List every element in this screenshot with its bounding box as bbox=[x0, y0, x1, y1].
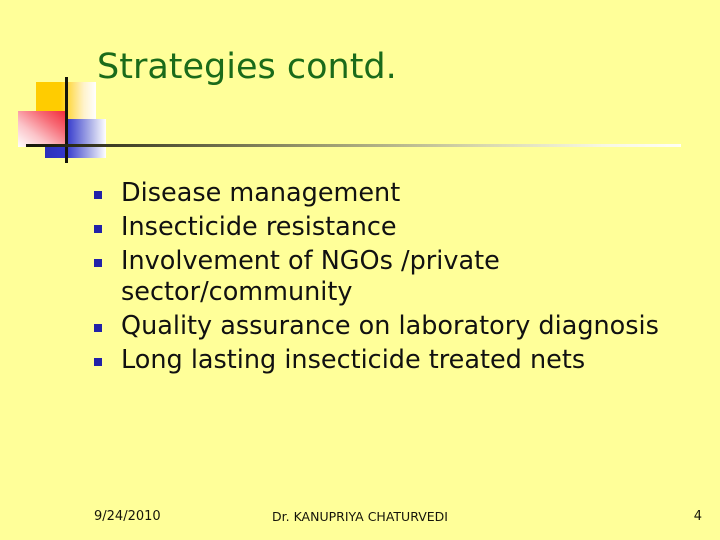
red-square-icon bbox=[18, 111, 65, 147]
vertical-rule-divider bbox=[65, 77, 68, 163]
list-item-label: Involvement of NGOs /private sector/comm… bbox=[121, 246, 692, 308]
list-item: Involvement of NGOs /private sector/comm… bbox=[92, 246, 692, 308]
page-title: Strategies contd. bbox=[97, 46, 397, 88]
list-item-label: Long lasting insecticide treated nets bbox=[121, 345, 692, 376]
list-item: Long lasting insecticide treated nets bbox=[92, 345, 692, 376]
list-item-label: Quality assurance on laboratory diagnosi… bbox=[121, 311, 692, 342]
slide-footer: 9/24/2010 Dr. KANUPRIYA CHATURVEDI 4 bbox=[0, 505, 720, 529]
horizontal-rule-divider bbox=[26, 144, 681, 147]
square-bullet-icon bbox=[94, 259, 102, 267]
square-bullet-icon bbox=[94, 191, 102, 199]
slide-canvas: Strategies contd. Disease management Ins… bbox=[0, 0, 720, 540]
square-bullet-icon bbox=[94, 324, 102, 332]
square-bullet-icon bbox=[94, 225, 102, 233]
footer-page-number: 4 bbox=[0, 505, 702, 529]
list-item: Disease management bbox=[92, 178, 692, 209]
list-item: Quality assurance on laboratory diagnosi… bbox=[92, 311, 692, 342]
list-item: Insecticide resistance bbox=[92, 212, 692, 243]
list-item-label: Insecticide resistance bbox=[121, 212, 692, 243]
list-item-label: Disease management bbox=[121, 178, 692, 209]
decorative-logo-graphic bbox=[0, 60, 130, 170]
bullet-list: Disease management Insecticide resistanc… bbox=[92, 178, 692, 379]
square-bullet-icon bbox=[94, 358, 102, 366]
